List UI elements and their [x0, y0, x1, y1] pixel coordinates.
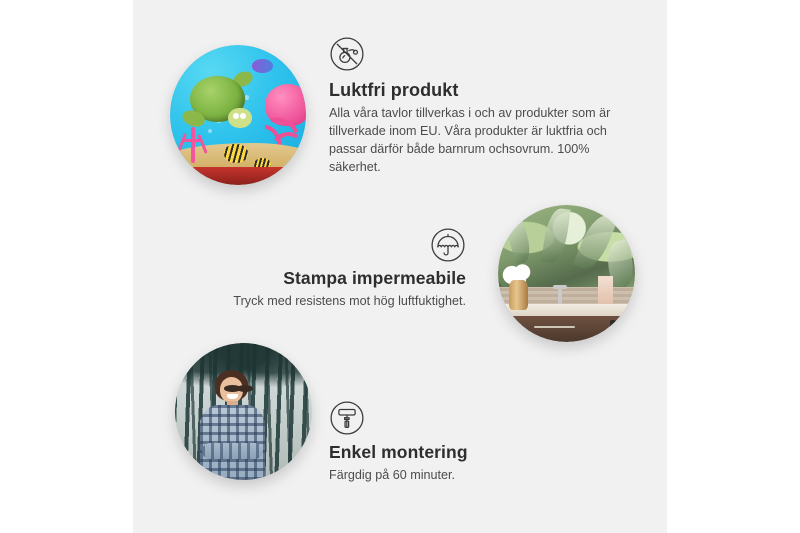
foreground-strip [170, 167, 306, 185]
cabinet-handle [610, 320, 615, 339]
feature-mounting: Enkel montering Färgdig på 60 minuter. [329, 400, 589, 485]
blue-fish-icon [252, 59, 274, 73]
feature-body: Färgdig på 60 minuter. [329, 467, 589, 485]
turtle-head [228, 108, 251, 128]
coral [175, 123, 210, 162]
paint-roller-icon [329, 400, 589, 436]
yellow-fish-icon [224, 144, 247, 162]
photo-underwater-kids-scene [170, 45, 306, 185]
photo-bathroom-tropical-wallpaper [498, 205, 635, 342]
no-fragrance-icon [329, 36, 629, 72]
octopus-eye [305, 100, 306, 103]
feature-body: Tryck med resistens mot hög luftfuktighe… [180, 293, 466, 311]
feature-heading: Luktfri produkt [329, 80, 629, 101]
product-feature-banner: Luktfri produkt Alla våra tavlor tillver… [0, 0, 800, 533]
photo-inner [498, 205, 635, 342]
feature-odourless: Luktfri produkt Alla våra tavlor tillver… [329, 36, 629, 177]
umbrella-icon [180, 227, 466, 263]
feature-body: Alla våra tavlor tillverkas i och av pro… [329, 105, 629, 177]
photo-painter-forest-mural [175, 343, 312, 480]
vase [509, 280, 528, 310]
person-arms [202, 443, 262, 459]
bubble-icon [245, 95, 249, 99]
photo-inner [170, 45, 306, 185]
feature-waterproof: Stampa impermeabile Tryck med resistens … [180, 227, 466, 311]
feature-heading: Stampa impermeabile [180, 268, 466, 289]
feature-heading: Enkel montering [329, 442, 589, 463]
photo-inner [175, 343, 312, 480]
